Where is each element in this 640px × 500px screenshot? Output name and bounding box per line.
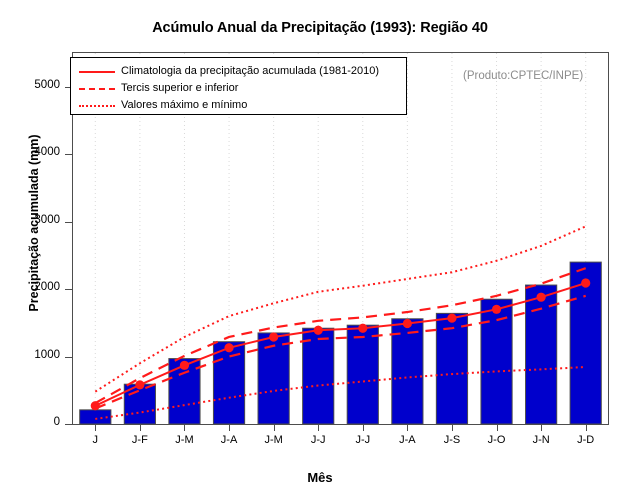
x-tick-label: J-M [159, 434, 209, 446]
x-tick-mark [452, 424, 453, 431]
data-point-marker [358, 324, 367, 333]
x-tick-mark [586, 424, 587, 431]
data-point-marker [314, 326, 323, 335]
data-point-marker [581, 278, 590, 287]
chart-legend: Climatologia da precipitação acumulada (… [70, 57, 407, 115]
y-tick-mark [65, 222, 72, 223]
data-point-marker [180, 361, 189, 370]
y-tick-mark [65, 289, 72, 290]
x-tick-label: J-J [293, 434, 343, 446]
bar [481, 299, 512, 424]
legend-item-2: Valores máximo e mínimo [79, 97, 406, 113]
legend-key-solid-icon [79, 66, 115, 77]
x-tick-mark [140, 424, 141, 431]
legend-label-1: Tercis superior e inferior [121, 82, 238, 94]
data-point-marker [447, 313, 456, 322]
x-tick-label: J-O [472, 434, 522, 446]
data-point-marker [224, 343, 233, 352]
y-tick-label: 3000 [14, 214, 60, 226]
legend-label-0: Climatologia da precipitação acumulada (… [121, 65, 379, 77]
x-tick-label: J-N [516, 434, 566, 446]
x-tick-label: J-A [204, 434, 254, 446]
x-tick-label: J [70, 434, 120, 446]
data-point-marker [492, 305, 501, 314]
legend-label-2: Valores máximo e mínimo [121, 99, 247, 111]
x-tick-mark [184, 424, 185, 431]
x-tick-label: J-S [427, 434, 477, 446]
bar [303, 328, 334, 424]
x-tick-mark [363, 424, 364, 431]
x-tick-label: J-D [561, 434, 611, 446]
y-tick-label: 0 [14, 416, 60, 428]
source-note: (Produto:CPTEC/INPE) [463, 70, 583, 82]
x-tick-label: J-A [382, 434, 432, 446]
x-tick-label: J-F [115, 434, 165, 446]
legend-key-dotted-icon [79, 100, 115, 111]
y-tick-mark [65, 424, 72, 425]
y-tick-label: 5000 [14, 79, 60, 91]
bar [347, 325, 378, 424]
y-tick-label: 4000 [14, 146, 60, 158]
x-tick-mark [274, 424, 275, 431]
y-tick-label: 2000 [14, 281, 60, 293]
legend-key-dashed-icon [79, 83, 115, 94]
x-tick-mark [407, 424, 408, 431]
x-tick-mark [318, 424, 319, 431]
data-point-marker [91, 401, 100, 410]
bar [436, 313, 467, 424]
page-title: Acúmulo Anual da Precipitação (1993): Re… [0, 20, 640, 36]
data-point-marker [403, 319, 412, 328]
y-tick-mark [65, 154, 72, 155]
data-point-marker [537, 293, 546, 302]
data-point-marker [269, 332, 278, 341]
data-point-marker [135, 380, 144, 389]
x-tick-mark [95, 424, 96, 431]
x-tick-label: J-M [249, 434, 299, 446]
x-tick-mark [541, 424, 542, 431]
x-tick-label: J-J [338, 434, 388, 446]
y-tick-mark [65, 357, 72, 358]
x-axis-label: Mês [0, 470, 640, 485]
x-tick-mark [229, 424, 230, 431]
x-tick-mark [497, 424, 498, 431]
legend-item-1: Tercis superior e inferior [79, 80, 406, 96]
y-tick-label: 1000 [14, 349, 60, 361]
chart-canvas: Acúmulo Anual da Precipitação (1993): Re… [0, 0, 640, 500]
legend-item-0: Climatologia da precipitação acumulada (… [79, 63, 406, 79]
